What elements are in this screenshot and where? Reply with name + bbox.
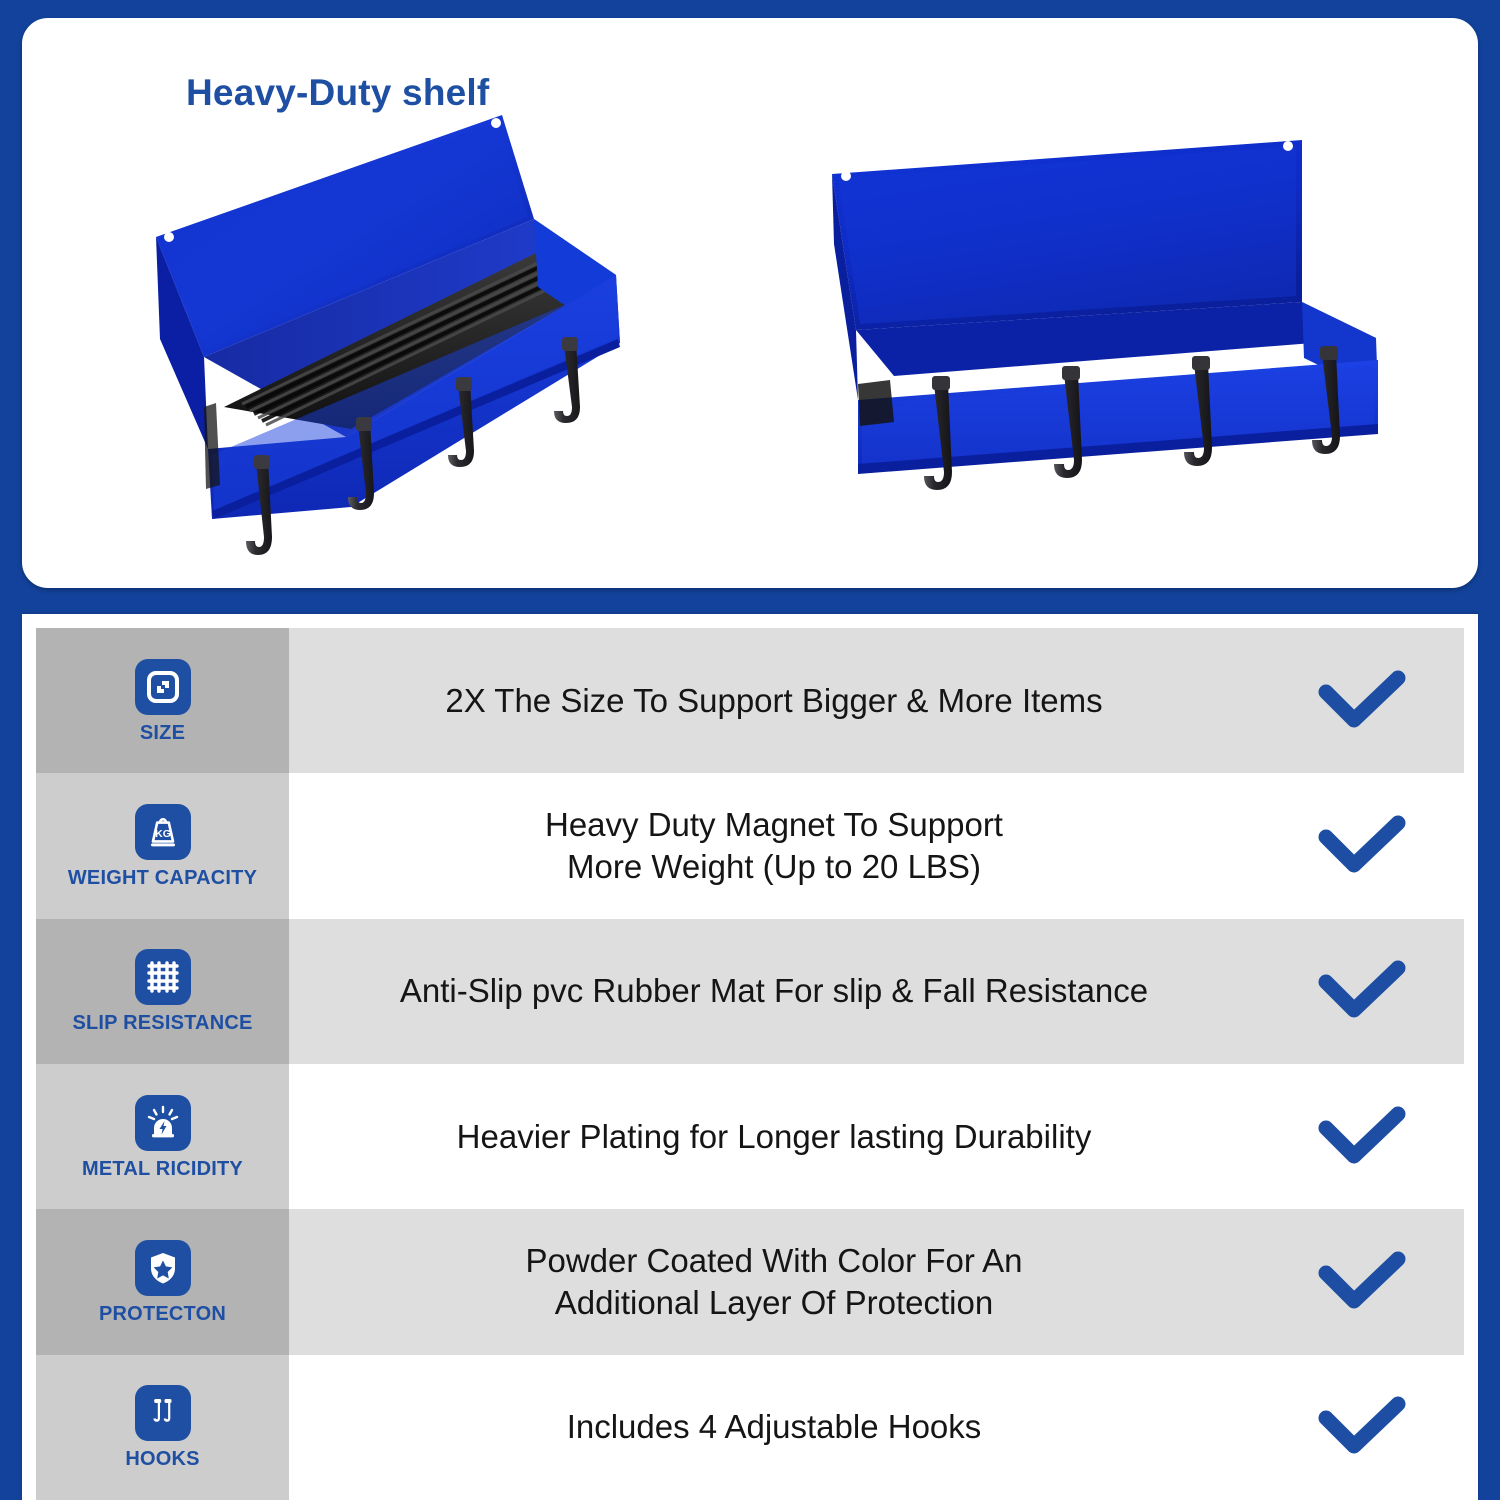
check-icon [1316, 666, 1408, 736]
feature-text-cell: 2X The Size To Support Bigger & More Ite… [289, 628, 1259, 773]
feature-text-cell: Powder Coated With Color For An Addition… [289, 1209, 1259, 1354]
table-row: METAL RICIDITY Heavier Plating for Longe… [36, 1064, 1464, 1209]
feature-check-cell [1259, 1064, 1464, 1209]
check-icon [1316, 1392, 1408, 1462]
feature-check-cell [1259, 1209, 1464, 1354]
feature-comparison-table: SIZE 2X The Size To Support Bigger & Mor… [22, 614, 1478, 1500]
feature-description: Includes 4 Adjustable Hooks [567, 1406, 982, 1448]
feature-check-cell [1259, 1355, 1464, 1500]
table-row: HOOKS Includes 4 Adjustable Hooks [36, 1355, 1464, 1500]
feature-icon-cell: METAL RICIDITY [36, 1064, 289, 1209]
hooks-icon [135, 1385, 191, 1441]
feature-text-cell: Anti-Slip pvc Rubber Mat For slip & Fall… [289, 919, 1259, 1064]
feature-check-cell [1259, 628, 1464, 773]
feature-icon-cell: KG WEIGHT CAPACITY [36, 773, 289, 918]
size-icon [135, 659, 191, 715]
feature-text-cell: Includes 4 Adjustable Hooks [289, 1355, 1259, 1500]
feature-icon-cell: HOOKS [36, 1355, 289, 1500]
angled-shelf-illustration [146, 107, 726, 567]
product-image-panel: Heavy-Duty shelf [22, 18, 1478, 588]
shield-star-icon [135, 1240, 191, 1296]
weight-kg-icon: KG [135, 804, 191, 860]
feature-label: METAL RICIDITY [82, 1159, 243, 1179]
beacon-bolt-icon [135, 1095, 191, 1151]
table-row: SLIP RESISTANCE Anti-Slip pvc Rubber Mat… [36, 919, 1464, 1064]
feature-icon-cell: PROTECTON [36, 1209, 289, 1354]
feature-icon-cell: SLIP RESISTANCE [36, 919, 289, 1064]
feature-label: PROTECTON [99, 1304, 226, 1324]
feature-description: Heavier Plating for Longer lasting Durab… [457, 1116, 1092, 1158]
table-row: SIZE 2X The Size To Support Bigger & Mor… [36, 628, 1464, 773]
feature-description: Heavy Duty Magnet To Support More Weight… [545, 804, 1003, 888]
feature-check-cell [1259, 919, 1464, 1064]
feature-label: SLIP RESISTANCE [72, 1013, 252, 1033]
feature-label: SIZE [140, 723, 185, 743]
infographic-page: Heavy-Duty shelf [0, 0, 1500, 1500]
front-shelf-illustration [816, 132, 1416, 532]
grid-mesh-icon [135, 949, 191, 1005]
feature-description: Powder Coated With Color For An Addition… [525, 1240, 1022, 1324]
feature-description: 2X The Size To Support Bigger & More Ite… [445, 680, 1102, 722]
page-title: Heavy-Duty shelf [186, 72, 489, 114]
check-icon [1316, 1247, 1408, 1317]
feature-description: Anti-Slip pvc Rubber Mat For slip & Fall… [400, 970, 1148, 1012]
feature-check-cell [1259, 773, 1464, 918]
product-image-angled-shelf [146, 107, 726, 567]
table-row: KG WEIGHT CAPACITY Heavy Duty Magnet To … [36, 773, 1464, 918]
feature-text-cell: Heavier Plating for Longer lasting Durab… [289, 1064, 1259, 1209]
feature-icon-cell: SIZE [36, 628, 289, 773]
check-icon [1316, 956, 1408, 1026]
feature-label: WEIGHT CAPACITY [68, 868, 257, 888]
product-image-front-shelf [816, 132, 1416, 532]
feature-label: HOOKS [125, 1449, 199, 1469]
svg-text:KG: KG [155, 828, 171, 840]
feature-text-cell: Heavy Duty Magnet To Support More Weight… [289, 773, 1259, 918]
check-icon [1316, 811, 1408, 881]
table-row: PROTECTON Powder Coated With Color For A… [36, 1209, 1464, 1354]
check-icon [1316, 1102, 1408, 1172]
